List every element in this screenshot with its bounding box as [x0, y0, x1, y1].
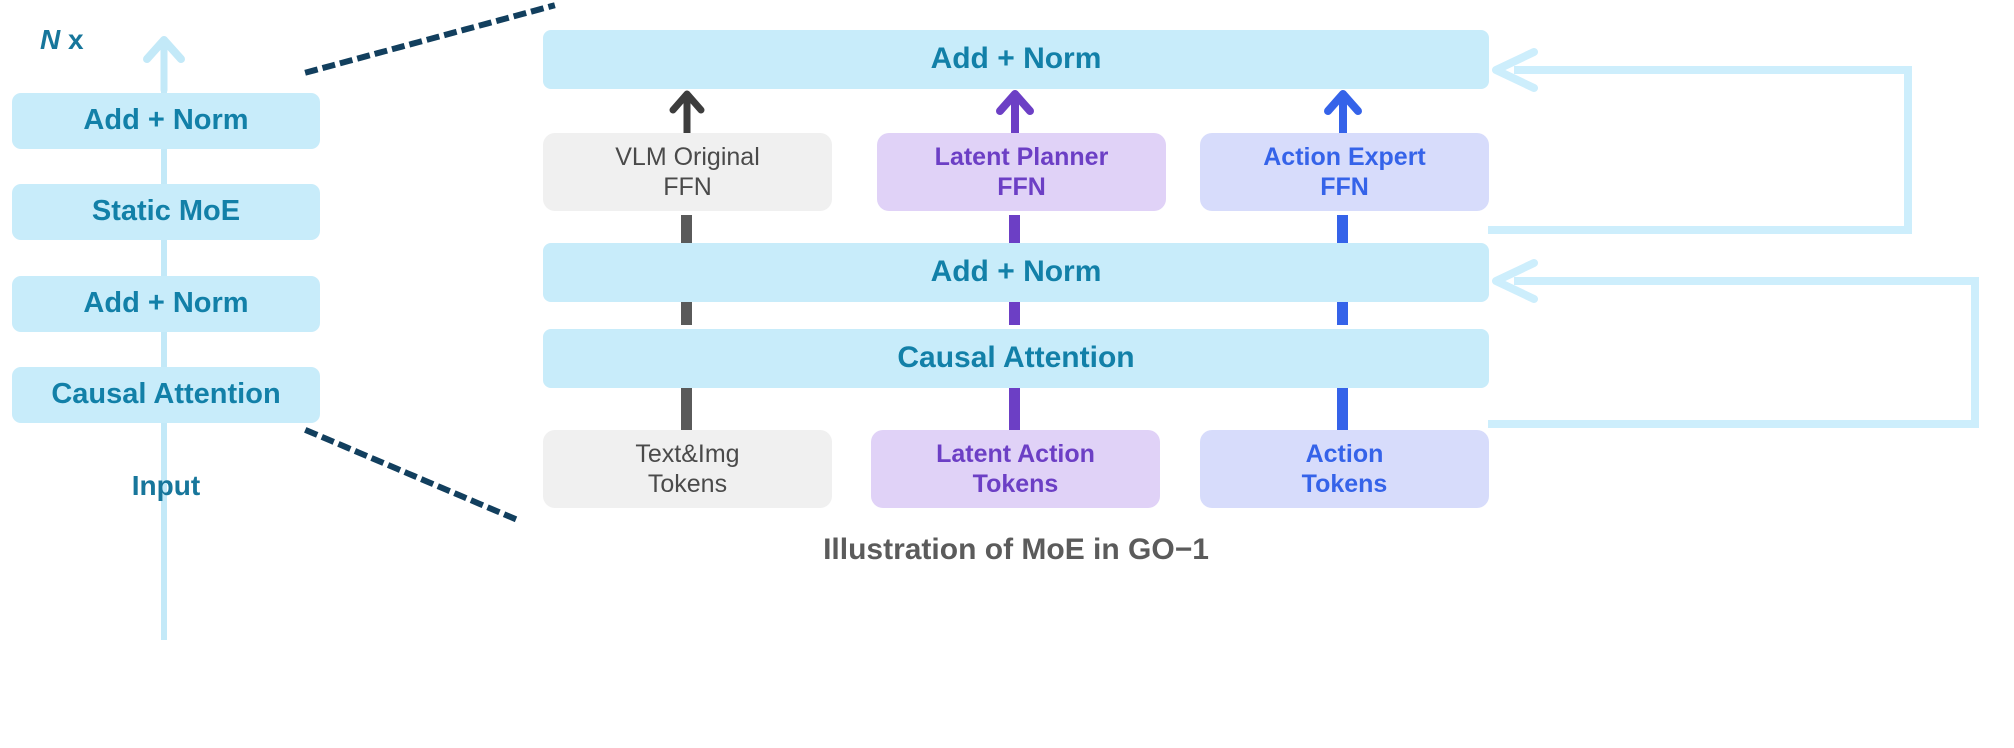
expert-label: Action Expert FFN	[1263, 142, 1426, 203]
dotted-connector-bottom-icon	[300, 425, 560, 530]
skip-connection-upper-icon	[1470, 30, 2014, 245]
left-block-label: Causal Attention	[51, 377, 280, 412]
expert-box-latent-planner-ffn: Latent Planner FFN	[877, 133, 1166, 211]
repeat-count-label: N x	[40, 24, 84, 56]
token-box-latent-action-tokens: Latent Action Tokens	[871, 430, 1160, 508]
token-box-text-img-tokens: Text&Img Tokens	[543, 430, 832, 508]
left-block-label: Add + Norm	[83, 286, 248, 321]
token-label: Latent Action Tokens	[936, 439, 1095, 500]
left-input-label: Input	[12, 470, 320, 502]
row-label: Add + Norm	[931, 254, 1102, 291]
row-label: Causal Attention	[897, 340, 1134, 377]
left-block-label: Add + Norm	[83, 103, 248, 138]
skip-connection-lower-icon	[1470, 215, 2014, 430]
token-label: Action Tokens	[1302, 439, 1388, 500]
expert-box-vlm-original-ffn: VLM Original FFN	[543, 133, 832, 211]
left-block-label: Static MoE	[92, 194, 240, 229]
right-row-add-norm-top: Add + Norm	[543, 30, 1489, 89]
row-label: Add + Norm	[931, 41, 1102, 78]
expert-label: VLM Original FFN	[615, 142, 760, 203]
left-output-arrow-icon	[138, 32, 188, 92]
dotted-connector-top-icon	[300, 0, 560, 80]
diagram-canvas: N x Add + Norm Static MoE Add + Norm Cau…	[0, 0, 2014, 748]
left-block-add-norm-bottom: Add + Norm	[12, 276, 320, 332]
right-row-causal-attention: Causal Attention	[543, 329, 1489, 388]
right-row-add-norm-mid: Add + Norm	[543, 243, 1489, 302]
expert-label: Latent Planner FFN	[935, 142, 1109, 203]
left-block-causal-attention: Causal Attention	[12, 367, 320, 423]
expert-box-action-expert-ffn: Action Expert FFN	[1200, 133, 1489, 211]
left-block-add-norm-top: Add + Norm	[12, 93, 320, 149]
figure-caption: Illustration of MoE in GO−1	[543, 533, 1489, 567]
token-box-action-tokens: Action Tokens	[1200, 430, 1489, 508]
left-block-static-moe: Static MoE	[12, 184, 320, 240]
token-label: Text&Img Tokens	[635, 439, 739, 500]
